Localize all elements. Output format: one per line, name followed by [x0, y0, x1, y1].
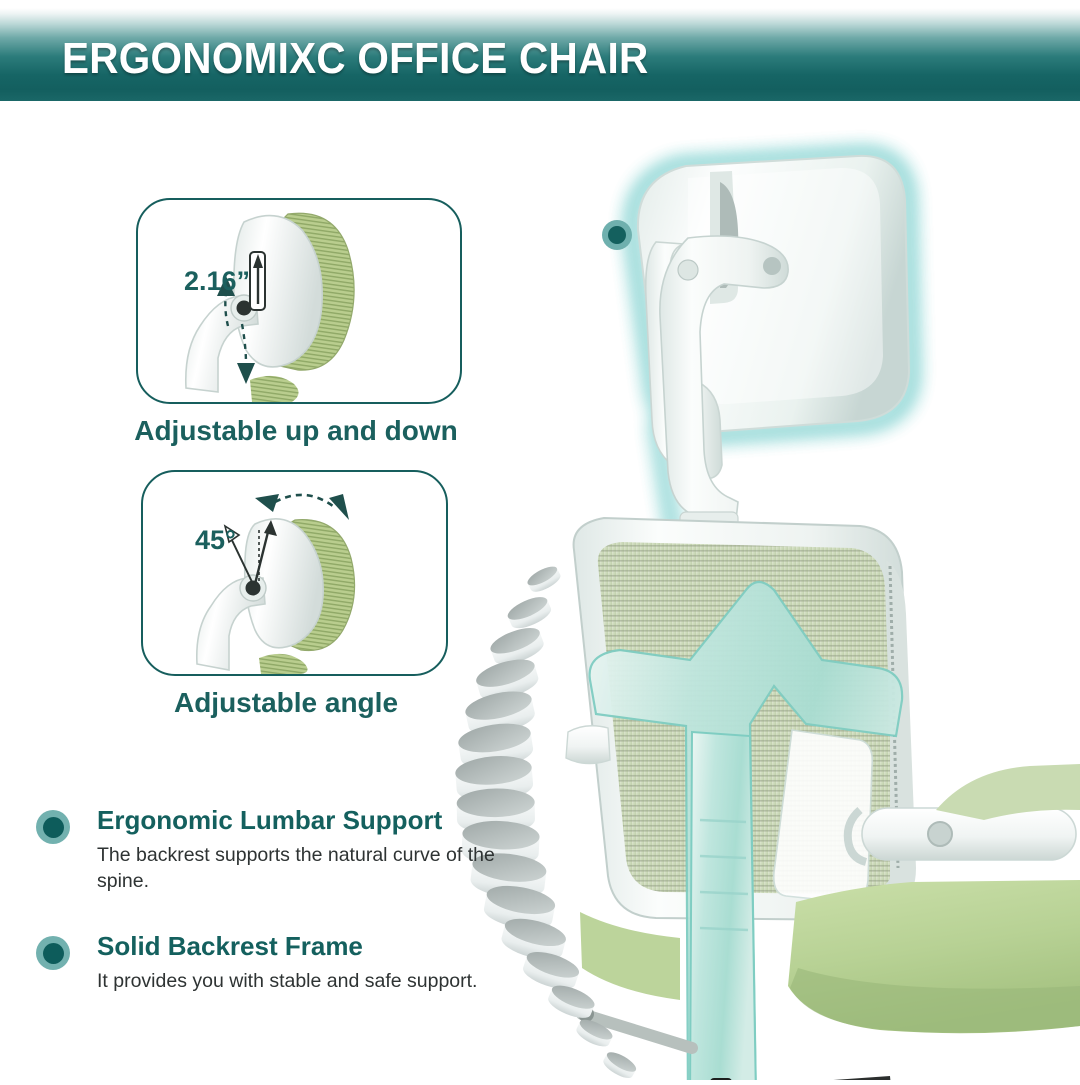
measure-label-45deg: 45°	[195, 525, 236, 556]
bullet-dot-icon	[36, 936, 70, 970]
bullet-description: It provides you with stable and safe sup…	[97, 969, 516, 995]
header-banner: ERGONOMIXC OFFICE CHAIR	[0, 8, 1080, 101]
list-item: Solid Backrest Frame It provides you wit…	[36, 932, 516, 995]
feature-box-adjustable-up-down	[136, 198, 462, 404]
spine-disc	[525, 563, 563, 595]
bullet-description: The backrest supports the natural curve …	[97, 843, 516, 894]
spine-disc	[505, 592, 554, 632]
spine-disc	[601, 1049, 639, 1080]
page-title: ERGONOMIXC OFFICE CHAIR	[62, 37, 649, 81]
feature-caption-adjustable-angle: Adjustable angle	[76, 688, 496, 719]
headrest-callout-dot	[602, 220, 632, 250]
measure-label-216in: 2.16”	[184, 266, 250, 297]
list-item: Ergonomic Lumbar Support The backrest su…	[36, 806, 516, 894]
feature-bullet-list: Ergonomic Lumbar Support The backrest su…	[36, 806, 516, 1033]
feature-caption-adjustable-up-down: Adjustable up and down	[86, 416, 506, 447]
bullet-title: Ergonomic Lumbar Support	[97, 806, 516, 836]
feature-box-adjustable-angle	[141, 470, 448, 676]
bullet-dot-icon	[36, 810, 70, 844]
bullet-title: Solid Backrest Frame	[97, 932, 516, 962]
headrest-rotation-arc-icon	[143, 472, 446, 674]
headrest-vertical-arrows-icon	[138, 200, 460, 402]
spine-disc	[574, 1016, 615, 1051]
